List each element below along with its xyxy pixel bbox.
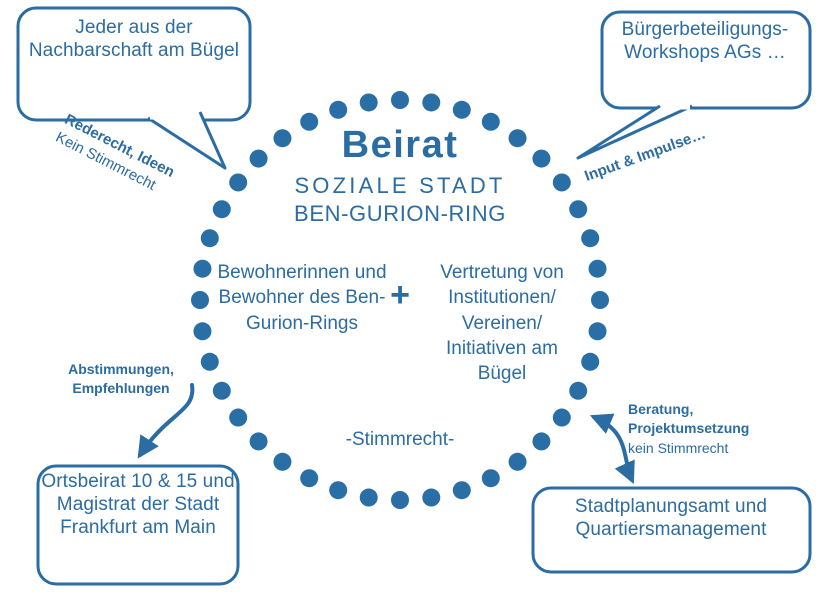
- center-column-right: Vertretung von Institutionen/ Vereinen/ …: [422, 260, 582, 386]
- ring-dot: [553, 173, 571, 191]
- center-column-left: Bewohnerinnen und Bewohner des Ben-Gurio…: [212, 260, 392, 336]
- ring-dot: [391, 491, 409, 509]
- ring-dot: [589, 260, 607, 278]
- diagram-title: Beirat: [260, 126, 540, 166]
- diagram-subtitle-2: BEN-GURION-RING: [250, 201, 550, 228]
- ring-dot: [201, 229, 219, 247]
- label-beratung: Beratung, Projektumsetzung kein Stimmrec…: [628, 400, 798, 458]
- ring-dot: [453, 481, 471, 499]
- ring-dot: [453, 101, 471, 119]
- ring-dot: [509, 453, 527, 471]
- callout-bottom-right-label: Stadtplanungsamt und Quartiersmanagement: [536, 495, 806, 541]
- arrow-beratung-double: [594, 417, 632, 480]
- label-abstimmungen: Abstimmungen, Empfehlungen: [46, 360, 196, 398]
- ring-dot: [273, 453, 291, 471]
- ring-dot: [193, 322, 211, 340]
- ring-dot: [422, 93, 440, 111]
- ring-dot: [229, 173, 247, 191]
- label-beratung-bold-1: Beratung,: [628, 400, 798, 419]
- diagram-canvas: Jeder aus der Nachbarschaft am Bügel Bür…: [0, 0, 820, 600]
- callout-top-left-label: Jeder aus der Nachbarschaft am Bügel: [24, 16, 244, 62]
- ring-dot: [553, 409, 571, 427]
- ring-dot: [482, 469, 500, 487]
- label-beratung-normal: kein Stimmrecht: [628, 439, 798, 458]
- ring-dot: [360, 93, 378, 111]
- ring-dot: [191, 291, 209, 309]
- ring-dot: [391, 91, 409, 109]
- ring-dot: [213, 382, 231, 400]
- callout-top-right-label: Bürgerbeteiligungs- Workshops AGs …: [600, 18, 810, 64]
- diagram-subtitle-1: SOZIALE STADT: [260, 173, 540, 200]
- ring-dot: [250, 432, 268, 450]
- ring-dot: [300, 469, 318, 487]
- ring-dot: [229, 409, 247, 427]
- ring-dot: [581, 353, 599, 371]
- ring-dot: [360, 489, 378, 507]
- ring-dot: [193, 260, 211, 278]
- ring-dot: [532, 432, 550, 450]
- callout-bottom-left-label: Ortsbeirat 10 & 15 und Magistrat der Sta…: [38, 470, 238, 540]
- ring-dot: [329, 101, 347, 119]
- ring-dot: [329, 481, 347, 499]
- plus-symbol: +: [380, 278, 420, 312]
- ring-dot: [569, 200, 587, 218]
- ring-dot: [422, 489, 440, 507]
- ring-dot: [201, 353, 219, 371]
- ring-dot: [581, 229, 599, 247]
- center-footer-stimmrecht: -Stimmrecht-: [320, 428, 480, 451]
- label-beratung-bold-2: Projektumsetzung: [628, 419, 798, 438]
- ring-dot: [589, 322, 607, 340]
- ring-dot: [591, 291, 609, 309]
